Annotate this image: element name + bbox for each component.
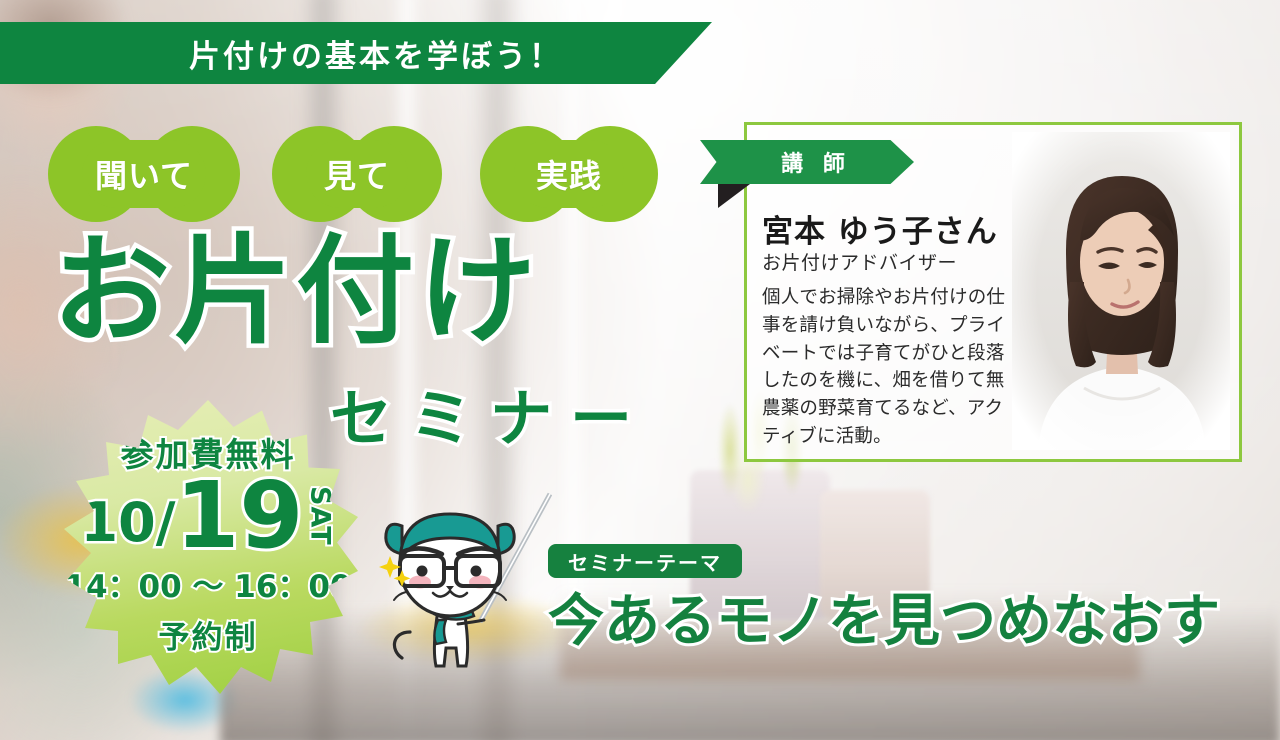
badge-kiite: 聞いて	[48, 126, 240, 222]
cat-mascot-illustration	[372, 482, 552, 682]
badge-label: 実践	[536, 151, 602, 197]
reservation-label: 予約制	[159, 612, 258, 657]
instructor-name: 宮本 ゆう子さん	[762, 206, 998, 251]
seminar-poster: 片付けの基本を学ぼう！ 聞いて 見て 実践 お片付け セミナー 参加費無料 10…	[0, 0, 1280, 740]
badge-label: 聞いて	[95, 151, 193, 197]
main-title-subline: セミナー	[330, 388, 650, 450]
day-label: 19	[175, 474, 303, 559]
top-banner: 片付けの基本を学ぼう！	[0, 22, 712, 84]
instructor-role: お片付けアドバイザー	[762, 248, 957, 275]
top-banner-text: 片付けの基本を学ぼう！	[189, 31, 563, 76]
month-label: 10/	[81, 496, 176, 550]
seminar-theme-label: セミナーテーマ	[568, 547, 722, 576]
badge-label: 見て	[324, 151, 390, 197]
main-title: お片付け	[52, 232, 540, 350]
instructor-bio: 個人でお掃除やお片付けの仕事を請け負いながら、プライベートでは子育てがひと段落し…	[762, 284, 1008, 451]
badge-mite: 見て	[272, 126, 442, 222]
seminar-theme-headline: 今あるモノを見つめなおす	[548, 594, 1220, 650]
instructor-ribbon: 講 師	[700, 140, 914, 184]
instructor-photo	[1012, 132, 1230, 450]
date-line: 10/ 19 SAT	[81, 474, 336, 559]
ribbon-label: 講 師	[700, 140, 914, 184]
seminar-theme-pill: セミナーテーマ	[548, 544, 742, 578]
weekday-label: SAT	[304, 486, 335, 546]
badge-jissen: 実践	[480, 126, 658, 222]
